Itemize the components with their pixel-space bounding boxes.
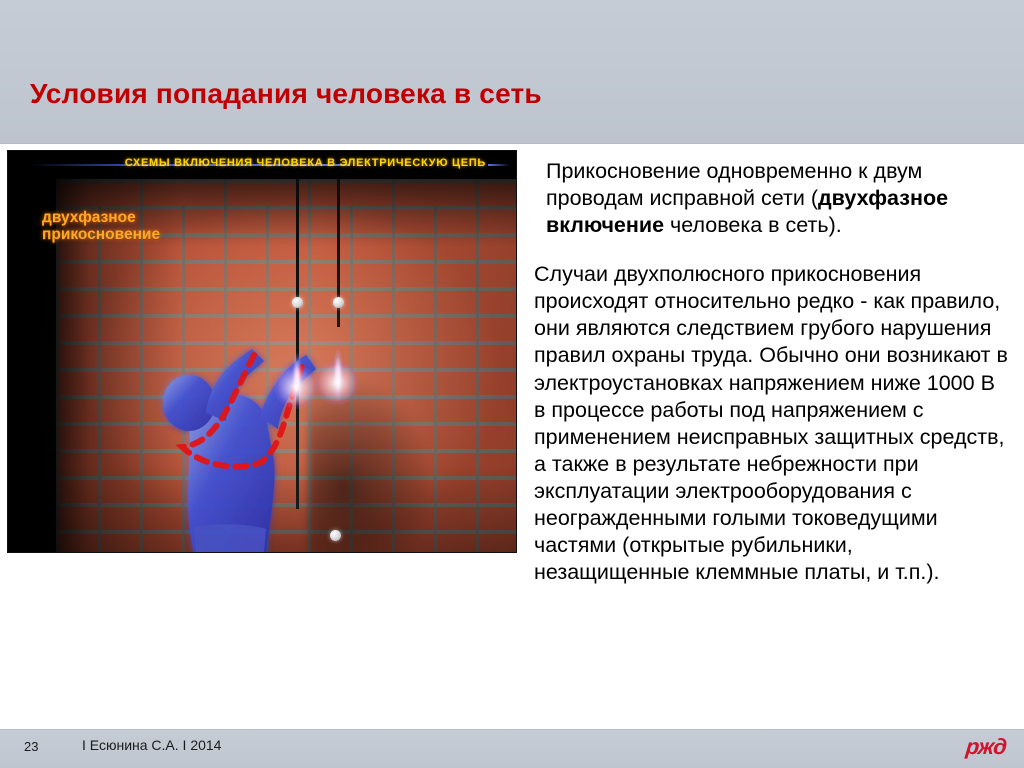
content-column: Прикосновение одновременно к двум провод… [534,158,1012,586]
lead-paragraph: Прикосновение одновременно к двум провод… [546,158,1012,239]
slide-root: Условия попадания человека в сеть [0,0,1024,767]
arc-glow-left [274,365,318,409]
insulator-right [333,297,344,308]
illustration-photo: СХЕМЫ ВКЛЮЧЕНИЯ ЧЕЛОВЕКА В ЭЛЕКТРИЧЕСКУЮ… [7,150,517,553]
photo-banner-text: СХЕМЫ ВКЛЮЧЕНИЯ ЧЕЛОВЕКА В ЭЛЕКТРИЧЕСКУЮ… [125,157,486,169]
body-paragraph: Случаи двухполюсного прикосновения проис… [534,261,1012,586]
footer-author-line: I Есюнина С.А. I 2014 [82,737,221,753]
photo-banner: СХЕМЫ ВКЛЮЧЕНИЯ ЧЕЛОВЕКА В ЭЛЕКТРИЧЕСКУЮ… [8,151,516,179]
lead-text-part2: человека в сеть). [664,213,842,237]
rzd-logo: ржд [965,736,1007,758]
page-number: 23 [24,739,38,754]
photo-caption: двухфазное прикосновение [42,209,160,244]
header-band [0,0,1024,144]
arc-glow-right [315,361,359,405]
banner-rule-right [488,164,510,166]
insulator-left [292,297,303,308]
page-title: Условия попадания человека в сеть [30,78,542,110]
